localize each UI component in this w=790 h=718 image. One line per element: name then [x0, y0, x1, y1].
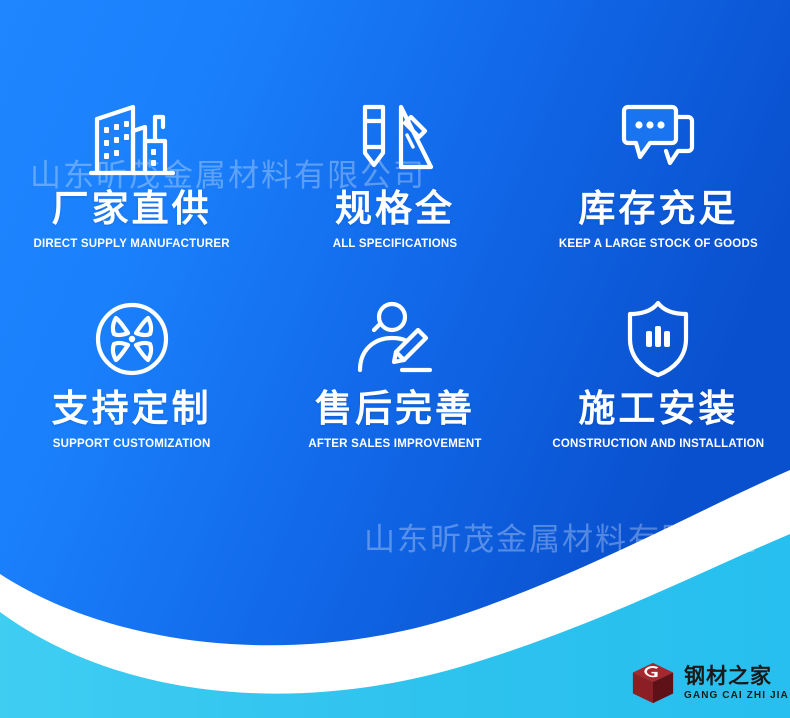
- feature-item-construction-installation: 施工安装 CONSTRUCTION AND INSTALLATION: [527, 296, 790, 496]
- feature-grid: 厂家直供 DIRECT SUPPLY MANUFACTURER: [0, 96, 790, 496]
- feature-item-after-sales: 售后完善 AFTER SALES IMPROVEMENT: [263, 296, 526, 496]
- shield-bars-icon: [622, 296, 694, 382]
- feature-title-en: DIRECT SUPPLY MANUFACTURER: [34, 238, 230, 250]
- person-edit-icon: [354, 296, 436, 382]
- feature-title-cn: 售后完善: [315, 390, 475, 427]
- feature-title-cn: 厂家直供: [52, 190, 212, 227]
- logo-text-block: 钢材之家 GANG CAI ZHI JIA: [684, 665, 789, 701]
- wheel-fan-icon: [92, 296, 172, 382]
- feature-title-cn: 支持定制: [52, 390, 212, 427]
- factory-building-icon: [89, 96, 175, 182]
- feature-item-all-specifications: 规格全 ALL SPECIFICATIONS: [263, 96, 526, 296]
- feature-title-en: SUPPORT CUSTOMIZATION: [53, 438, 211, 450]
- feature-title-en: AFTER SALES IMPROVEMENT: [308, 438, 481, 450]
- feature-title-en: CONSTRUCTION AND INSTALLATION: [552, 438, 764, 450]
- feature-title-cn: 规格全: [335, 190, 455, 227]
- chat-bubbles-icon: [616, 96, 700, 182]
- feature-item-direct-supply: 厂家直供 DIRECT SUPPLY MANUFACTURER: [0, 96, 263, 296]
- feature-item-support-customization: 支持定制 SUPPORT CUSTOMIZATION: [0, 296, 263, 496]
- logo-name-cn: 钢材之家: [684, 665, 789, 687]
- feature-title-cn: 库存充足: [578, 190, 738, 227]
- feature-item-large-stock: 库存充足 KEEP A LARGE STOCK OF GOODS: [527, 96, 790, 296]
- pencil-ruler-icon: [355, 96, 435, 182]
- feature-title-cn: 施工安装: [578, 390, 738, 427]
- logo-name-en: GANG CAI ZHI JIA: [684, 690, 789, 701]
- brand-logo: 钢材之家 GANG CAI ZHI JIA: [630, 660, 789, 706]
- feature-title-en: ALL SPECIFICATIONS: [333, 238, 458, 250]
- promotional-banner: 山东昕茂金属材料有限公司 山东昕茂金属材料有限公司: [0, 0, 790, 718]
- cube-logo-icon: [630, 660, 676, 706]
- feature-title-en: KEEP A LARGE STOCK OF GOODS: [559, 238, 758, 250]
